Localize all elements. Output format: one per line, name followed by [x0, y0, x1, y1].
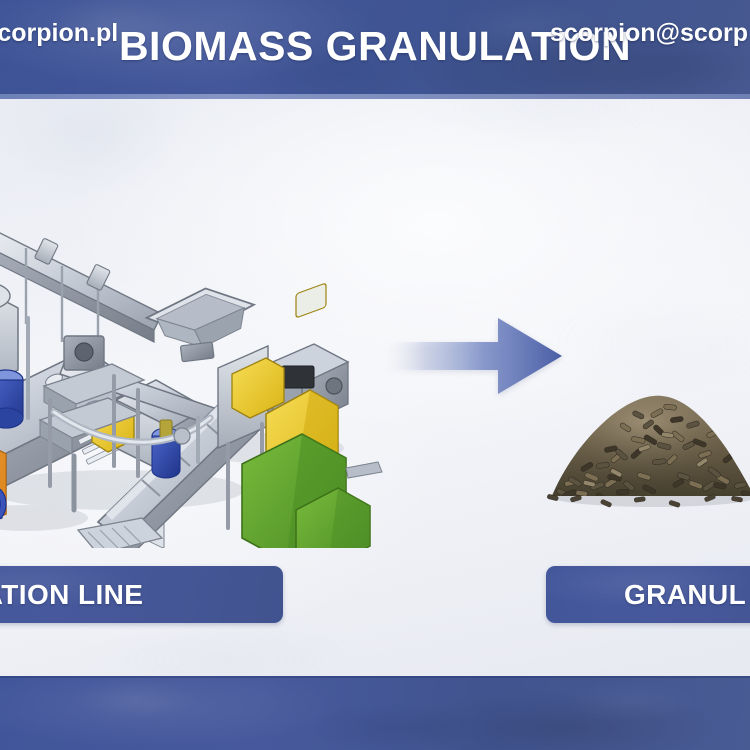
banner-granulate[interactable]: GRANUL [546, 566, 750, 623]
footer-bar [0, 676, 750, 750]
banner-granulation-line[interactable]: NULATION LINE [0, 566, 283, 623]
footer-website[interactable]: w.scorpion.pl [0, 19, 118, 48]
footer-texture [0, 676, 750, 750]
slide-canvas: BIOMASS GRANULATION NULATION LINE GRANUL… [0, 0, 750, 750]
granulation-line-illustration [0, 118, 396, 548]
biomass-pellets-pile [546, 372, 750, 508]
process-flow-arrow [386, 308, 562, 404]
footer-email[interactable]: scorpion@scorp [550, 19, 748, 48]
banner-left-label: NULATION LINE [0, 566, 143, 623]
banner-right-label: GRANUL [624, 566, 746, 623]
header-underline [0, 94, 750, 99]
